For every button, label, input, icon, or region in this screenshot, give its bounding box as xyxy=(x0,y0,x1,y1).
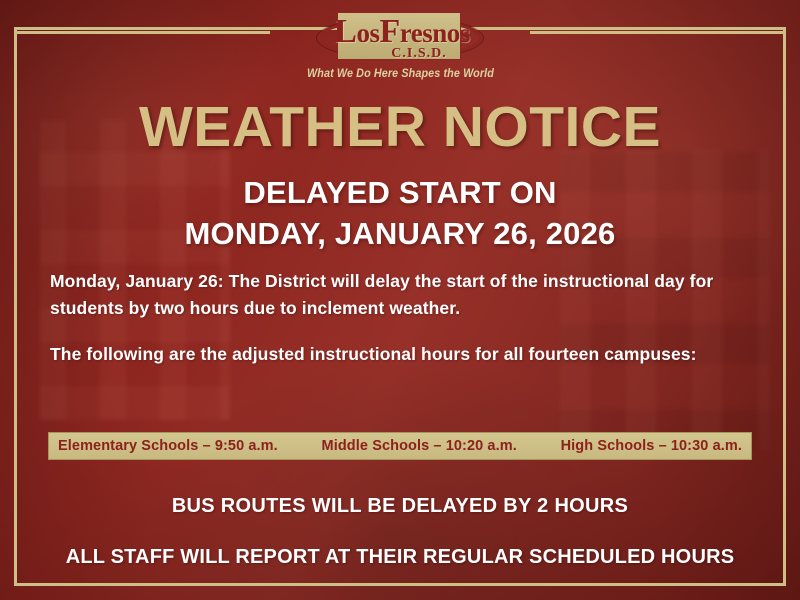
logo-mark: LosFresnos C.I.S.D. xyxy=(315,12,485,64)
schedule-item-middle: Middle Schools – 10:20 a.m. xyxy=(322,438,517,454)
subtitle-line-2: MONDAY, JANUARY 26, 2026 xyxy=(0,214,800,255)
bus-routes-notice: BUS ROUTES WILL BE DELAYED BY 2 HOURS xyxy=(0,495,800,518)
schedule-item-elementary: Elementary Schools – 9:50 a.m. xyxy=(58,438,278,454)
schedule-item-high: High Schools – 10:30 a.m. xyxy=(561,438,742,454)
subtitle: DELAYED START ON MONDAY, JANUARY 26, 202… xyxy=(0,173,800,255)
logo-text-group: LosFresnos C.I.S.D. xyxy=(330,15,470,61)
logo-district-name: LosFresnos xyxy=(334,15,470,49)
body-paragraph-1: Monday, January 26: The District will de… xyxy=(50,268,754,321)
adjusted-hours-bar: Elementary Schools – 9:50 a.m. Middle Sc… xyxy=(48,432,752,460)
body-paragraph-2: The following are the adjusted instructi… xyxy=(50,341,754,368)
body-text: Monday, January 26: The District will de… xyxy=(50,268,754,368)
district-logo: LosFresnos C.I.S.D. What We Do Here Shap… xyxy=(0,12,800,80)
page-title: WEATHER NOTICE xyxy=(0,99,800,156)
subtitle-line-1: DELAYED START ON xyxy=(0,173,800,214)
logo-tagline: What We Do Here Shapes the World xyxy=(306,68,493,80)
weather-notice-poster: LosFresnos C.I.S.D. What We Do Here Shap… xyxy=(0,0,800,600)
staff-hours-notice: ALL STAFF WILL REPORT AT THEIR REGULAR S… xyxy=(0,546,800,569)
